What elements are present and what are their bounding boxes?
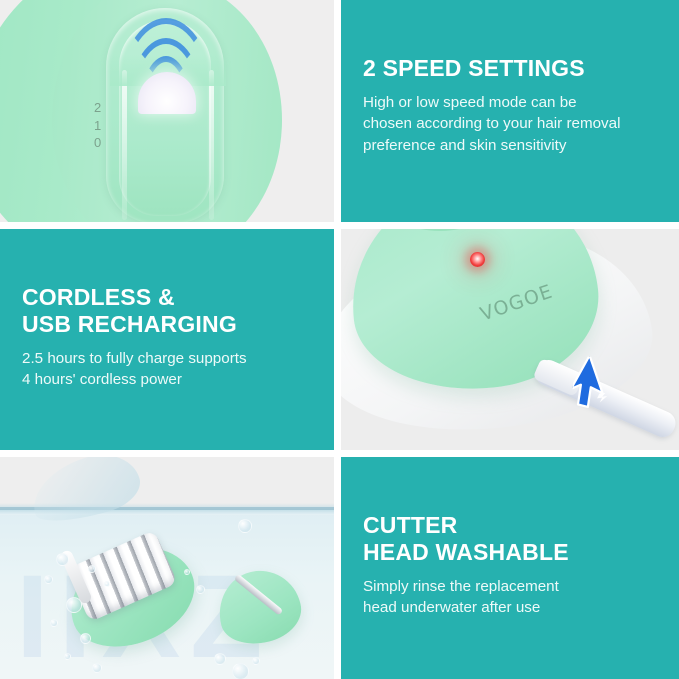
- bubble: [44, 575, 53, 584]
- speed-heading: 2 SPEED SETTINGS: [363, 55, 661, 82]
- pointer-arrow-icon: [571, 356, 615, 415]
- speed-level-markings: 2 1 0: [94, 99, 102, 152]
- cordless-heading: CORDLESS & USB RECHARGING: [22, 284, 316, 338]
- bubble: [92, 663, 102, 673]
- bubble: [196, 585, 205, 594]
- speed-text-block: 2 SPEED SETTINGS High or low speed mode …: [363, 55, 661, 157]
- panel-cordless-text: CORDLESS & USB RECHARGING 2.5 hours to f…: [0, 229, 334, 450]
- speed-body: High or low speed mode can be chosen acc…: [363, 92, 661, 157]
- panel-speed-image: 2 1 0: [0, 0, 334, 222]
- bubble: [238, 519, 252, 533]
- bubble: [64, 653, 71, 660]
- speed-mark-1: 1: [94, 117, 102, 135]
- infographic-grid: 2 1 0 2 SPEED SETTINGS High or low speed…: [0, 0, 679, 679]
- speed-mark-0: 0: [94, 134, 102, 152]
- bubble: [232, 663, 249, 679]
- bubble: [56, 553, 69, 566]
- bubble: [88, 565, 96, 573]
- bubble: [104, 581, 110, 587]
- washable-body: Simply rinse the replacement head underw…: [363, 576, 661, 619]
- speed-mark-2: 2: [94, 99, 102, 117]
- panel-washable-text: CUTTER HEAD WASHABLE Simply rinse the re…: [341, 457, 679, 679]
- bubble: [184, 569, 190, 575]
- bubble: [66, 597, 82, 613]
- washable-text-block: CUTTER HEAD WASHABLE Simply rinse the re…: [363, 512, 661, 619]
- bubble: [80, 633, 91, 644]
- washable-heading: CUTTER HEAD WASHABLE: [363, 512, 661, 566]
- charging-led-indicator: [470, 252, 485, 267]
- cordless-body: 2.5 hours to fully charge supports 4 hou…: [22, 348, 316, 391]
- panel-cordless-image: VOGOE: [341, 229, 679, 450]
- bubble: [50, 619, 58, 627]
- bubble: [252, 657, 260, 665]
- panel-water-image: IIXZ: [0, 457, 334, 679]
- bubble: [214, 653, 226, 665]
- panel-speed-text: 2 SPEED SETTINGS High or low speed mode …: [341, 0, 679, 222]
- cordless-text-block: CORDLESS & USB RECHARGING 2.5 hours to f…: [22, 284, 316, 391]
